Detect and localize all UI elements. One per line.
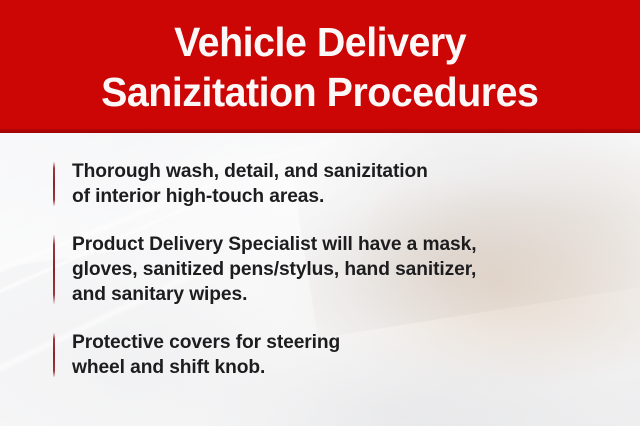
list-item: Thorough wash, detail, and sanizitation … — [0, 159, 640, 209]
bullet-rule-marker — [53, 235, 55, 304]
list-item-line: Product Delivery Specialist will have a … — [72, 232, 631, 257]
bullet-rule-marker — [53, 162, 55, 206]
list-item: Product Delivery Specialist will have a … — [0, 232, 640, 307]
vehicle-delivery-sanitization-poster: Vehicle Delivery Sanizitation Procedures… — [0, 0, 640, 426]
list-item-line: wheel and shift knob. — [72, 355, 631, 380]
list-item-line: Thorough wash, detail, and sanizitation — [72, 159, 631, 184]
list-item-line: of interior high-touch areas. — [72, 184, 631, 209]
procedures-list: Thorough wash, detail, and sanizitation … — [0, 133, 640, 426]
body-area: Thorough wash, detail, and sanizitation … — [0, 133, 640, 426]
banner-title-line-1: Vehicle Delivery — [174, 17, 466, 67]
banner-title-line-2: Sanizitation Procedures — [101, 67, 538, 117]
list-item-line: and sanitary wipes. — [72, 282, 631, 307]
list-item-line: gloves, sanitized pens/stylus, hand sani… — [72, 257, 631, 282]
bullet-rule-marker — [53, 333, 55, 377]
header-banner: Vehicle Delivery Sanizitation Procedures — [0, 0, 640, 133]
list-item: Protective covers for steering wheel and… — [0, 330, 640, 380]
list-item-line: Protective covers for steering — [72, 330, 631, 355]
